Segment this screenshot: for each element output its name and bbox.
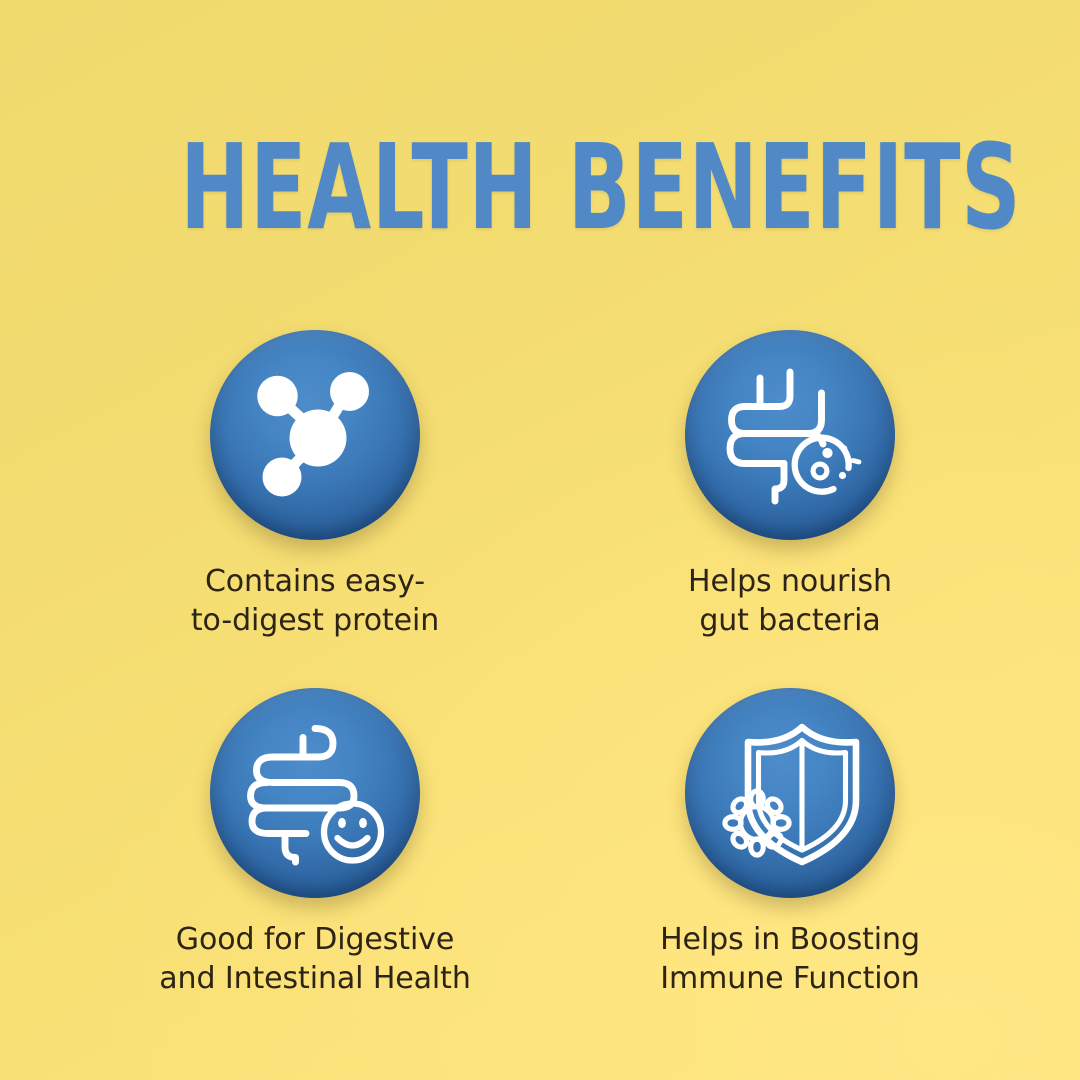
smiley-face <box>324 804 381 861</box>
shield-virus-icon <box>715 718 865 868</box>
benefit-icon-badge <box>685 688 895 898</box>
page-title: HEALTH BENEFITS <box>180 128 1021 246</box>
benefit-item-gut-bacteria: Helps nourish gut bacteria <box>565 330 1015 688</box>
benefit-caption: Helps in Boosting Immune Function <box>660 920 920 998</box>
benefit-item-protein: Contains easy- to-digest protein <box>65 330 565 688</box>
benefit-item-immune: Helps in Boosting Immune Function <box>565 688 1015 1046</box>
benefit-icon-badge <box>210 330 420 540</box>
benefit-icon-badge <box>685 330 895 540</box>
benefit-caption: Good for Digestive and Intestinal Health <box>159 920 470 998</box>
benefit-item-digestive-health: Good for Digestive and Intestinal Health <box>65 688 565 1046</box>
health-benefits-poster: HEALTH BENEFITS <box>0 0 1080 1080</box>
molecule-protein-icon <box>240 360 390 510</box>
benefit-caption: Contains easy- to-digest protein <box>191 562 439 640</box>
benefit-caption: Helps nourish gut bacteria <box>688 562 892 640</box>
intestine-smiley-icon <box>240 718 390 868</box>
benefits-grid: Contains easy- to-digest protein <box>65 330 1015 1046</box>
benefit-icon-badge <box>210 688 420 898</box>
intestine-bacteria-icon <box>715 360 865 510</box>
page-title-container: HEALTH BENEFITS <box>0 128 1080 246</box>
bacteria-cell <box>795 438 859 492</box>
